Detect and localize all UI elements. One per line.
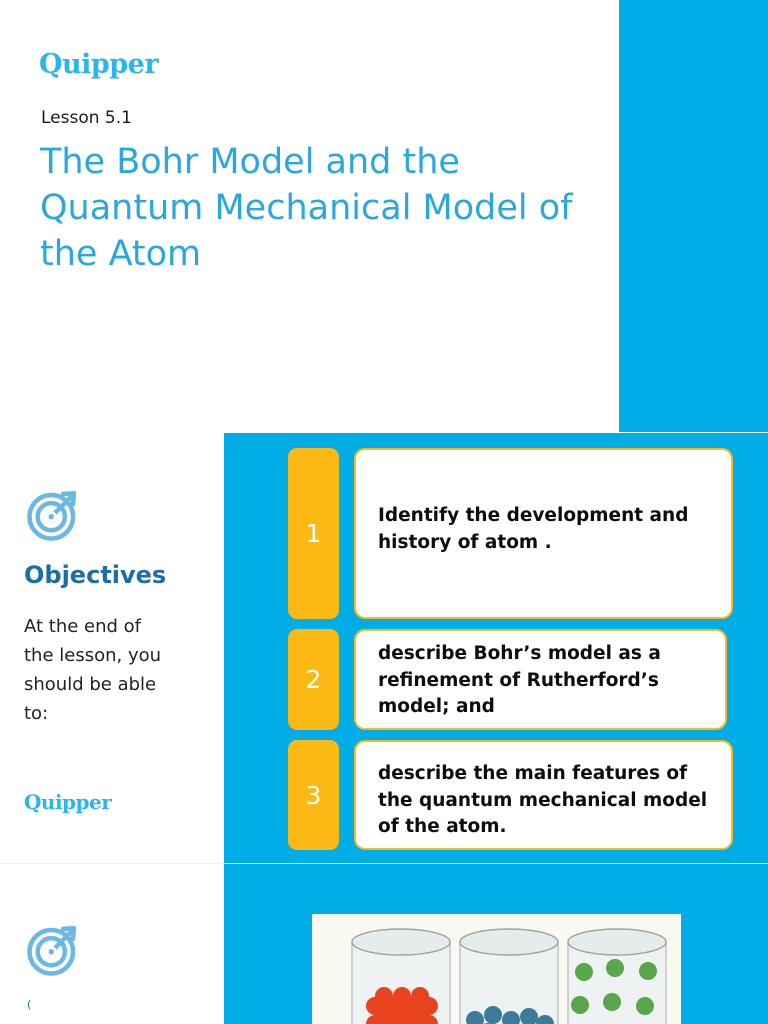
container-liquid	[460, 929, 558, 1024]
target-icon	[25, 485, 83, 543]
objective-text-2: describe Bohr’s model as a refinement of…	[378, 641, 728, 721]
page-title: The Bohr Model and the Quantum Mechanica…	[40, 139, 600, 277]
cyan-accent-panel-top	[619, 0, 768, 432]
objective-number-badge-3: 3	[288, 740, 339, 850]
target-icon	[25, 920, 83, 978]
quipper-logo: Quipper	[39, 49, 158, 80]
container-solid	[352, 929, 450, 1024]
states-of-matter-illustration	[312, 914, 681, 1024]
objective-text-3: describe the main features of the quantu…	[378, 761, 728, 841]
lesson-label: Lesson 5.1	[41, 108, 132, 128]
objective-number-badge-2: 2	[288, 629, 339, 730]
objectives-intro-text: At the end of the lesson, you should be …	[24, 612, 174, 728]
objectives-heading: Objectives	[24, 561, 194, 590]
container-gas	[568, 929, 667, 1024]
quipper-logo-footer: Quipper	[24, 790, 111, 814]
illustration-slide: (	[0, 864, 768, 1024]
title-slide: Quipper Lesson 5.1 The Bohr Model and th…	[0, 0, 768, 432]
objectives-slide: Objectives At the end of the lesson, you…	[0, 433, 768, 864]
bottom-text-fragment: (	[27, 998, 57, 1010]
objective-text-1: Identify the development and history of …	[378, 503, 728, 556]
objective-number-badge-1: 1	[288, 448, 339, 619]
